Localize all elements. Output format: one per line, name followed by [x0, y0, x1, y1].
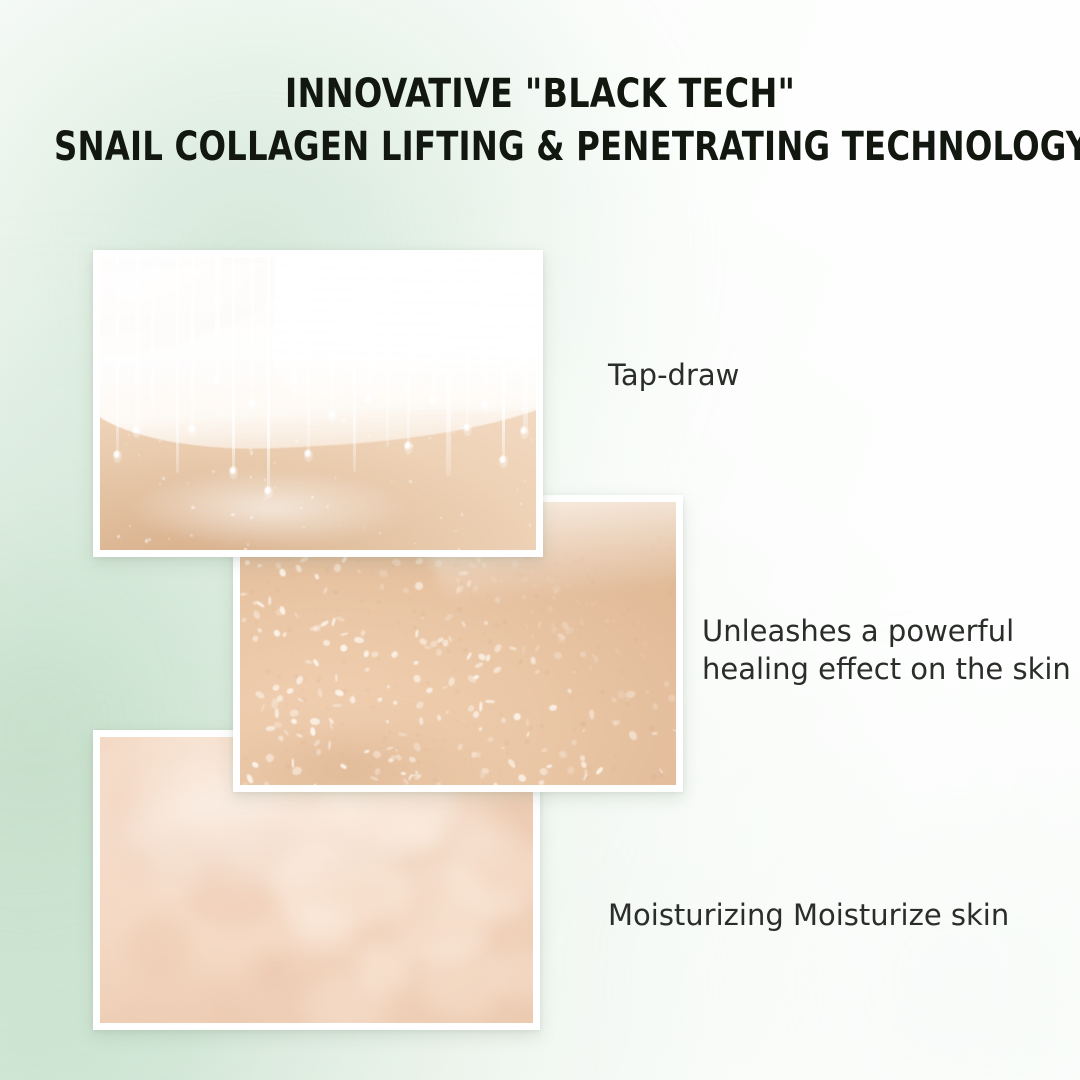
gel-surface-fleck: [159, 483, 161, 485]
gel-drip-strand: [502, 257, 505, 463]
skin-pore: [587, 766, 591, 770]
gel-drip-strand: [307, 257, 310, 457]
skin-pore: [579, 633, 583, 637]
gel-surface-fleck: [263, 497, 266, 500]
skin-pore: [430, 572, 434, 576]
gel-surface-fleck: [364, 498, 365, 499]
exfoliating-fleck: [644, 690, 649, 694]
caption-healing: Unleashes a powerful healing effect on t…: [702, 613, 1071, 688]
skin-pore: [413, 609, 416, 612]
gel-surface-fleck: [193, 404, 196, 407]
gel-surface-fleck: [311, 496, 314, 499]
gel-surface-fleck: [398, 423, 400, 425]
skin-pore: [371, 705, 375, 709]
gel-drip-strand: [292, 257, 297, 401]
skin-pore: [383, 736, 386, 739]
gel-drip-bead: [248, 399, 257, 412]
skin-pore: [649, 725, 654, 730]
exfoliating-fleck: [335, 673, 337, 681]
skin-pore: [540, 724, 543, 727]
smooth-skin-sheen: [117, 788, 515, 885]
gel-drip-strand: [251, 257, 254, 407]
skin-pore: [430, 748, 432, 750]
gel-surface-fleck: [364, 527, 365, 528]
skin-pore: [497, 771, 500, 774]
exfoliating-fleck: [567, 688, 572, 694]
headline-line-2: SNAIL COLLAGEN LIFTING & PENETRATING TEC…: [54, 127, 1026, 167]
gel-drip-strand: [466, 257, 469, 431]
skin-pore: [377, 601, 381, 605]
exfoliating-fleck: [492, 782, 497, 785]
skin-pore: [388, 731, 391, 734]
skin-pore: [619, 669, 624, 674]
gel-drip-strand: [523, 257, 528, 434]
gel-lift-photo: [93, 250, 543, 557]
gel-surface-fleck: [455, 530, 456, 531]
skin-pore: [346, 620, 349, 623]
skin-pore: [435, 778, 438, 781]
gel-drip-strand: [484, 257, 487, 408]
product-feature-poster: INNOVATIVE "BLACK TECH" SNAIL COLLAGEN L…: [0, 0, 1080, 1080]
gel-surface-fleck: [249, 448, 252, 451]
skin-pore: [581, 694, 583, 696]
exfoliating-fleck: [558, 638, 565, 643]
gel-surface-fleck: [222, 412, 225, 415]
gel-drip-strand: [176, 257, 179, 473]
skin-pore: [456, 719, 459, 722]
gel-surface-fleck: [340, 418, 342, 420]
gel-drip-bead: [113, 450, 122, 463]
skin-pore: [325, 567, 329, 571]
skin-pore: [596, 644, 601, 649]
gel-drip-strand: [151, 257, 154, 414]
skin-pore: [416, 733, 420, 737]
skin-pore: [673, 770, 676, 774]
skin-pore: [611, 766, 616, 771]
skin-pore: [425, 749, 428, 752]
gel-surface-fleck: [162, 477, 165, 480]
gel-surface-fleck: [308, 465, 309, 466]
exfoliating-fleck: [414, 582, 422, 590]
skin-pore: [367, 611, 370, 614]
skin-pore: [519, 659, 522, 662]
skin-pore: [506, 752, 508, 754]
headline: INNOVATIVE "BLACK TECH" SNAIL COLLAGEN L…: [0, 74, 1080, 167]
gel-drip-strand: [116, 257, 119, 458]
exfoliating-fleck: [436, 649, 442, 656]
skin-pore: [455, 689, 460, 694]
skin-pore: [524, 709, 529, 714]
gel-drip-strand: [331, 257, 334, 418]
gel-surface-fleck: [390, 479, 392, 481]
skin-pore: [621, 613, 626, 618]
skin-pore: [404, 633, 407, 636]
skin-pore: [393, 683, 398, 688]
gel-drip-bead: [212, 376, 221, 389]
skin-pore: [300, 740, 305, 745]
skin-pore: [651, 774, 656, 779]
skin-pore: [499, 712, 503, 716]
skin-pore: [504, 740, 509, 745]
skin-pore: [272, 608, 275, 611]
gel-drip-bead: [481, 400, 490, 413]
skin-pore: [286, 557, 291, 562]
skin-pore: [416, 760, 421, 765]
gel-surface-fleck: [191, 506, 195, 510]
skin-pore: [335, 751, 337, 753]
exfoliating-fleck: [385, 719, 389, 723]
skin-pore: [368, 735, 370, 737]
skin-pore: [578, 694, 580, 696]
gel-drip-strand: [353, 257, 356, 472]
gel-surface-fleck: [521, 407, 523, 409]
skin-pore: [431, 764, 434, 767]
gel-drip-strand: [367, 257, 372, 402]
skin-pore: [376, 657, 380, 661]
skin-pore: [465, 725, 468, 728]
gel-drip-strand: [215, 257, 220, 384]
gel-surface-fleck: [274, 462, 275, 463]
gel-surface-fleck: [111, 411, 114, 414]
gel-lift-photo-image: [100, 257, 536, 550]
gel-surface-fleck: [368, 436, 370, 438]
gel-surface-fleck: [187, 482, 189, 484]
gel-drip-bead: [132, 425, 141, 438]
gel-surface-fleck: [379, 532, 381, 534]
gel-drip-bead: [520, 426, 529, 439]
gel-drip-strand: [267, 257, 270, 494]
gel-surface-fleck: [339, 525, 340, 526]
skin-pore: [632, 622, 635, 625]
exfoliating-fleck: [380, 584, 384, 590]
skin-pore: [275, 588, 280, 593]
skin-tone-blob: [129, 915, 190, 980]
caption-moisturizing: Moisturizing Moisturize skin: [608, 897, 1009, 935]
headline-line-1: INNOVATIVE "BLACK TECH": [38, 74, 1042, 114]
gel-surface-fleck: [244, 548, 247, 550]
gel-surface-fleck: [351, 403, 355, 407]
exfoliating-fleck: [389, 758, 394, 762]
gel-surface-fleck: [247, 543, 249, 545]
skin-pore: [626, 608, 630, 612]
gel-surface-fleck: [224, 406, 227, 409]
skin-pore: [366, 688, 369, 691]
skin-pore: [287, 627, 292, 632]
gel-surface-fleck: [458, 548, 460, 550]
skin-pore: [613, 754, 618, 759]
gel-drip-bead: [188, 424, 197, 437]
skin-pore: [571, 695, 575, 699]
gel-drip-bead: [404, 441, 413, 454]
skin-pore: [247, 696, 249, 698]
skin-pore: [439, 668, 441, 670]
skin-pore: [291, 574, 295, 578]
skin-pore: [396, 621, 401, 626]
gel-drip-bead: [429, 395, 438, 408]
exfoliating-fleck: [603, 628, 609, 633]
skin-pore: [516, 694, 519, 697]
gel-drip-bead: [229, 466, 238, 479]
gel-surface-fleck: [138, 454, 140, 456]
exfoliating-fleck: [275, 708, 279, 718]
gel-surface-fleck: [384, 405, 385, 406]
skin-pore: [524, 739, 529, 744]
skin-pore: [463, 758, 466, 761]
gel-surface-fleck: [520, 503, 522, 505]
gel-surface-fleck: [460, 427, 462, 429]
exfoliating-fleck: [394, 748, 397, 751]
skin-pore: [393, 774, 396, 777]
gel-drip-bead: [304, 449, 313, 462]
skin-pore: [243, 756, 248, 761]
gel-surface-fleck: [168, 538, 170, 540]
exfoliating-fleck: [591, 653, 594, 657]
skin-pore: [437, 749, 442, 754]
skin-pore: [639, 746, 641, 748]
skin-pore: [625, 702, 629, 706]
gel-drip-strand: [446, 257, 451, 476]
gel-surface-fleck: [148, 538, 151, 541]
gel-drip-bead: [328, 410, 337, 423]
gel-surface-fleck: [516, 488, 519, 491]
gel-drip-strand: [407, 257, 410, 449]
gel-surface-fleck: [122, 420, 124, 422]
gel-drip-strand: [432, 257, 435, 403]
skin-pore: [659, 773, 663, 777]
exfoliating-fleck: [652, 702, 658, 709]
gel-drip-bead: [463, 423, 472, 436]
gel-drip-bead: [364, 394, 373, 407]
gel-drip-strand: [135, 257, 140, 433]
skin-pore: [286, 765, 290, 769]
skin-pore: [599, 665, 601, 667]
gel-drip-strand: [386, 257, 389, 447]
gel-photo-drip-strands: [100, 257, 536, 550]
skin-pore: [442, 739, 446, 743]
exfoliating-fleck: [584, 769, 587, 777]
skin-pore: [567, 645, 570, 648]
skin-pore: [580, 721, 585, 726]
gel-surface-fleck: [212, 470, 215, 473]
skin-pore: [657, 784, 659, 785]
gel-surface-fleck: [213, 408, 214, 409]
skin-pore: [277, 675, 281, 679]
skin-pore: [250, 589, 255, 594]
skin-pore: [315, 608, 319, 612]
gel-surface-fleck: [125, 444, 127, 446]
gel-surface-fleck: [400, 399, 403, 402]
gel-drip-strand: [232, 257, 235, 474]
skin-pore: [265, 669, 270, 674]
gel-surface-fleck: [250, 451, 254, 455]
gel-surface-fleck: [159, 440, 161, 442]
gel-surface-fleck: [326, 505, 329, 508]
skin-pore: [357, 559, 360, 562]
skin-pore: [388, 571, 390, 573]
caption-tap-draw: Tap-draw: [608, 357, 739, 395]
gel-surface-fleck: [266, 400, 267, 401]
gel-drip-bead: [499, 455, 508, 468]
